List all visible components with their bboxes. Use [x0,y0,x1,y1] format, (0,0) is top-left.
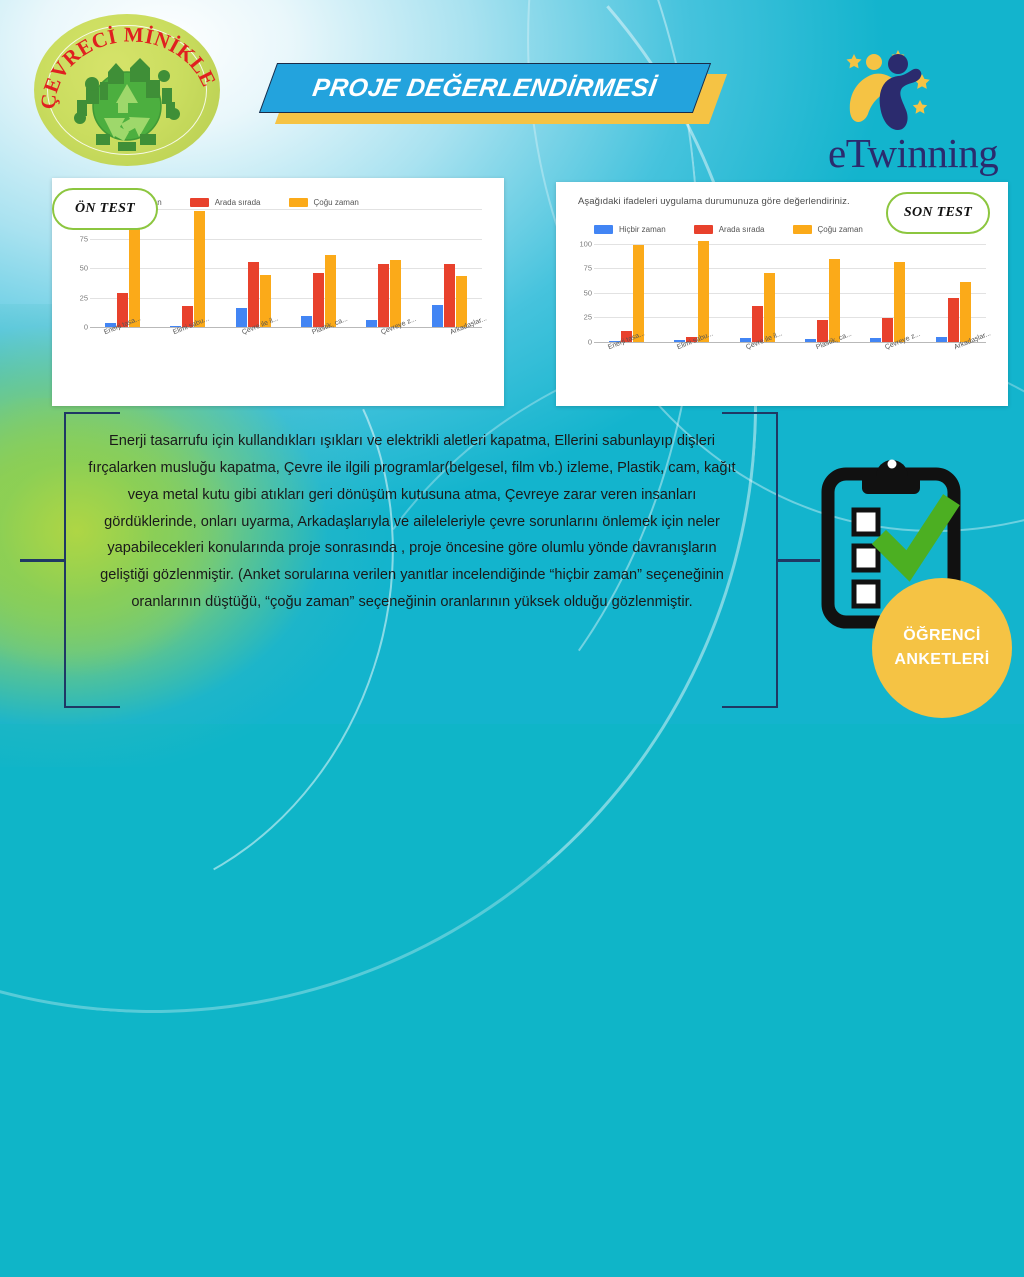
badge-student-surveys: ÖĞRENCİ ANKETLERİ [872,578,1012,718]
legend-label: Arada sırada [719,225,765,234]
legend-item: Hiçbir zaman [594,225,666,234]
clipboard-clip-hole [888,460,897,469]
badge-student-surveys-line2: ANKETLERİ [894,651,989,669]
bar-group [870,236,905,342]
bar-group [674,236,709,342]
chart-son-test-xaxis: Enerji tasa...Elimi sabu...Çevre ile il.… [594,342,1010,352]
etwinning-wordmark: eTwinning [828,133,1016,174]
bar-group [609,236,644,342]
bar-arada-sırada [313,273,324,327]
y-tick-label: 50 [80,264,88,273]
bar-arada-sırada [948,298,959,342]
legend-label: Çoğu zaman [314,198,359,207]
badge-student-surveys-line1: ÖĞRENCİ [903,627,980,645]
bar-çoğu-zaman [698,241,709,342]
bar-arada-sırada [378,264,389,327]
y-tick-label: 25 [584,313,592,322]
bar-çoğu-zaman [390,260,401,327]
checkbox-3 [854,582,878,606]
summary-paragraph: Enerji tasarrufu için kullandıkları ışık… [88,428,736,616]
legend-label: Arada sırada [215,198,261,207]
chart-son-test-yaxis: 0255075100 [566,236,592,342]
bar-group [805,236,840,342]
bar-çoğu-zaman [829,259,840,342]
chart-on-test-bars [90,209,482,327]
etwinning-mark [836,48,956,130]
y-tick-label: 50 [584,288,592,297]
connector-line-left [20,559,66,562]
badge-post-test-label: SON TEST [904,205,972,221]
connector-line-right [776,559,820,562]
legend-label: Hiçbir zaman [619,225,666,234]
legend-swatch-red [190,198,209,207]
etwinning-figure-navy [880,54,922,130]
bar-group [236,209,271,327]
bar-çoğu-zaman [894,262,905,342]
banner-blue-plate: PROJE DEĞERLENDİRMESİ [259,63,711,113]
legend-swatch-orange [289,198,308,207]
legend-item: Arada sırada [190,198,261,207]
bar-çoğu-zaman [960,282,971,342]
legend-swatch-blue [594,225,613,234]
project-logo: ÇEVRECİ MİNİKLER [34,14,220,166]
chart-son-test-bars [594,236,986,342]
checkbox-2 [854,546,878,570]
etwinning-logo: eTwinning [828,48,1016,176]
legend-item: Arada sırada [694,225,765,234]
clipboard-clip [862,474,920,494]
y-tick-label: 75 [80,234,88,243]
bar-group [301,209,336,327]
bar-group [936,236,971,342]
badge-pre-test: ÖN TEST [52,188,158,230]
checkbox-1 [854,510,878,534]
y-tick-label: 0 [588,338,592,347]
bar-group [170,209,205,327]
bar-arada-sırada [248,262,259,327]
bar-arada-sırada [444,264,455,327]
y-tick-label: 25 [80,293,88,302]
legend-label: Çoğu zaman [818,225,863,234]
chart-on-test-xaxis: Enerji tasa...Elimi sabu...Çevre ile il.… [90,327,506,337]
page-title: PROJE DEĞERLENDİRMESİ [311,74,659,103]
badge-pre-test-label: ÖN TEST [75,201,135,217]
bar-hiçbir-zaman [432,305,443,327]
legend-swatch-red [694,225,713,234]
y-tick-label: 0 [84,323,88,332]
checkmark-icon [886,508,946,566]
bar-hiçbir-zaman [366,320,377,327]
y-tick-label: 75 [584,264,592,273]
legend-item: Çoğu zaman [793,225,863,234]
bar-çoğu-zaman [194,211,205,327]
page-title-banner: PROJE DEĞERLENDİRMESİ [262,58,732,130]
legend-swatch-orange [793,225,812,234]
logo-graphic: ÇEVRECİ MİNİKLER [34,14,220,166]
bar-group [432,209,467,327]
legend-item: Çoğu zaman [289,198,359,207]
y-tick-label: 100 [579,239,592,248]
bar-group [740,236,775,342]
badge-post-test: SON TEST [886,192,990,234]
bar-group [366,209,401,327]
